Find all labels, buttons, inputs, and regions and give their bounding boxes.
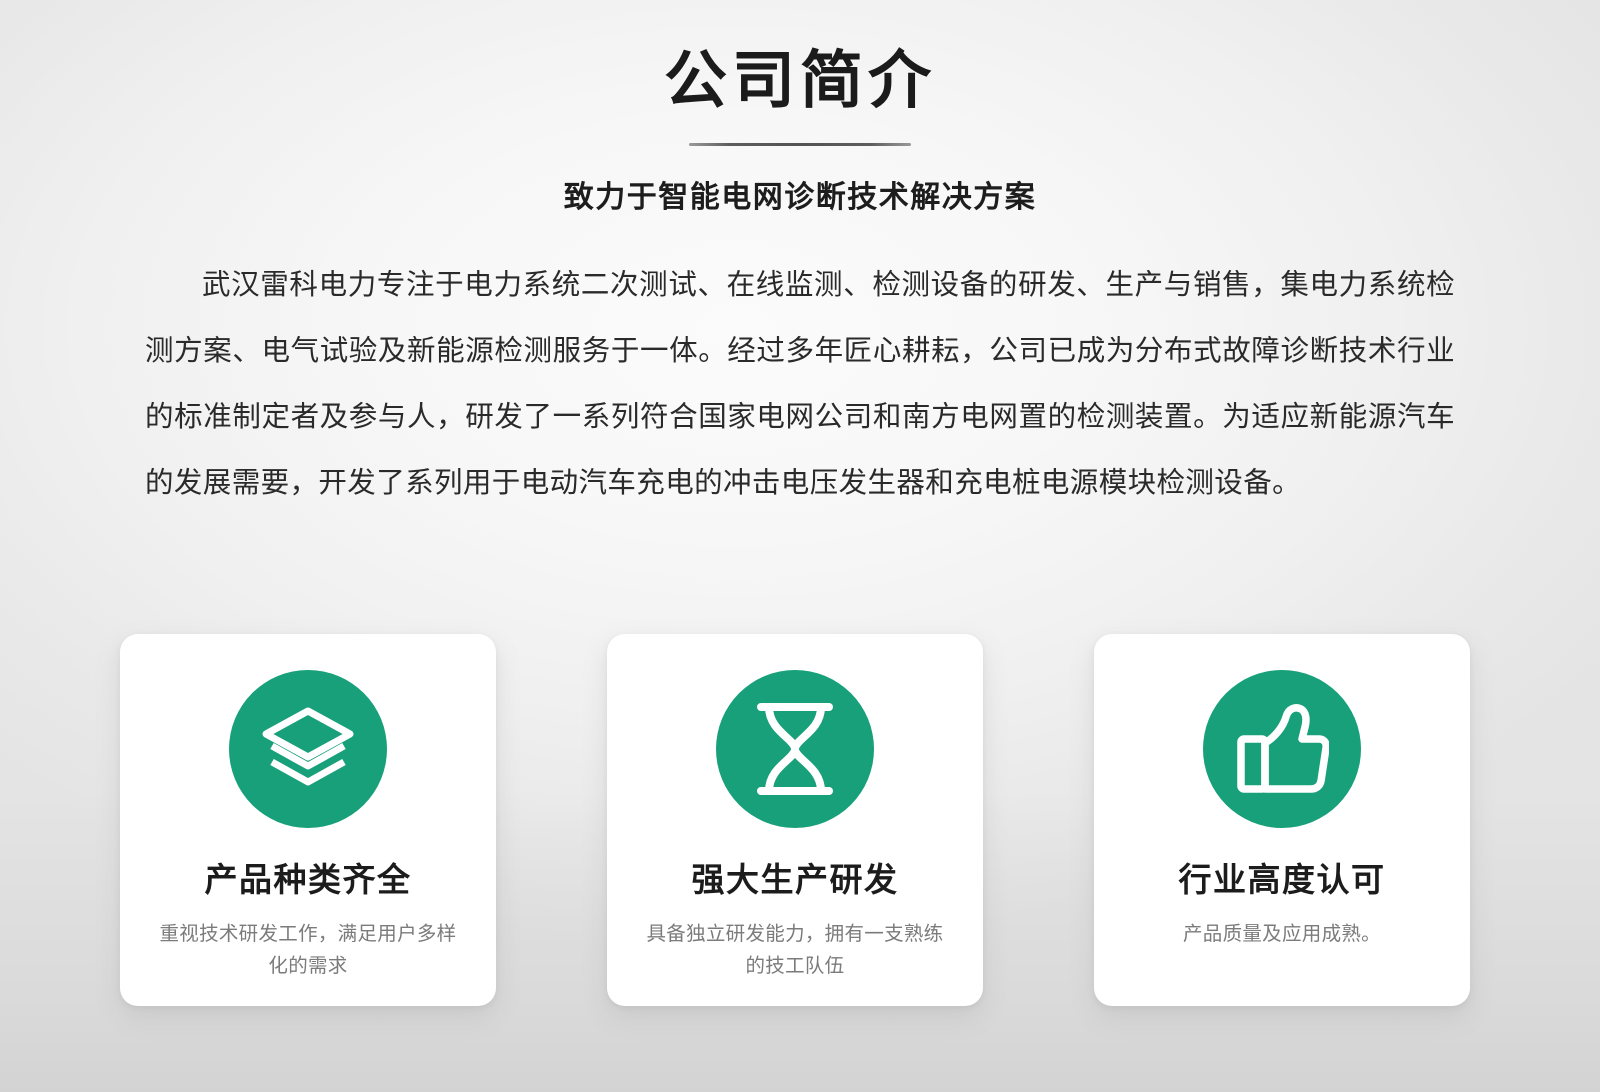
company-intro-paragraph: 武汉雷科电力专注于电力系统二次测试、在线监测、检测设备的研发、生产与销售，集电力… bbox=[145, 252, 1455, 516]
feature-card[interactable]: 行业高度认可 产品质量及应用成熟。 bbox=[1094, 634, 1470, 1006]
feature-card-title: 强大生产研发 bbox=[692, 860, 899, 900]
page-header: 公司简介 致力于智能电网诊断技术解决方案 bbox=[0, 0, 1600, 216]
feature-card-description: 重视技术研发工作，满足用户多样化的需求 bbox=[158, 918, 458, 982]
feature-card-title: 行业高度认可 bbox=[1179, 860, 1386, 900]
feature-card[interactable]: 强大生产研发 具备独立研发能力，拥有一支熟练的技工队伍 bbox=[607, 634, 983, 1006]
company-profile-page: 公司简介 致力于智能电网诊断技术解决方案 武汉雷科电力专注于电力系统二次测试、在… bbox=[0, 0, 1600, 1092]
feature-card-title: 产品种类齐全 bbox=[205, 860, 412, 900]
feature-card[interactable]: 产品种类齐全 重视技术研发工作，满足用户多样化的需求 bbox=[120, 634, 496, 1006]
hourglass-icon bbox=[716, 670, 874, 828]
page-subtitle: 致力于智能电网诊断技术解决方案 bbox=[0, 172, 1600, 216]
page-title: 公司简介 bbox=[0, 46, 1600, 117]
thumbs-up-icon bbox=[1203, 670, 1361, 828]
feature-card-description: 产品质量及应用成熟。 bbox=[1132, 918, 1432, 950]
title-divider bbox=[689, 143, 911, 146]
layers-icon bbox=[229, 670, 387, 828]
feature-card-list: 产品种类齐全 重视技术研发工作，满足用户多样化的需求 强大生产研发 具备独立研发… bbox=[120, 634, 1470, 1006]
feature-card-description: 具备独立研发能力，拥有一支熟练的技工队伍 bbox=[645, 918, 945, 982]
